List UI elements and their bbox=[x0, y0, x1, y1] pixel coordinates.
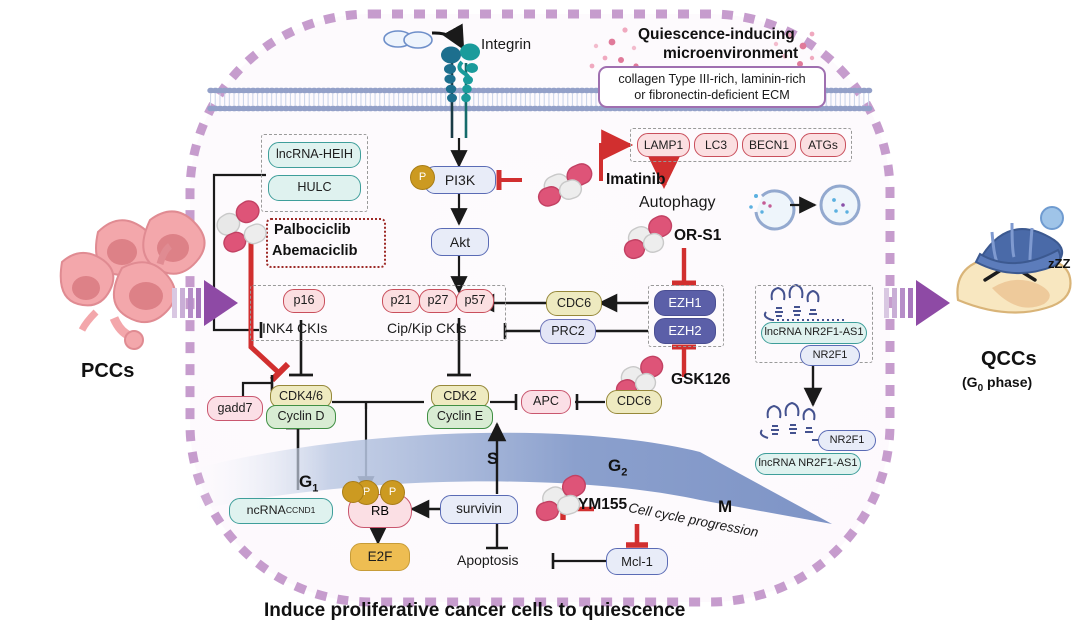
qccs-sublabel: (G0 phase) bbox=[962, 374, 1032, 394]
diagram-canvas: Integrin Quiescence-inducing microenviro… bbox=[0, 0, 1080, 631]
figure-caption: Induce proliferative cancer cells to qui… bbox=[264, 600, 685, 622]
ym155-capsule-icon-layer bbox=[0, 0, 1080, 631]
qccs-label: QCCs bbox=[981, 348, 1037, 371]
sleep-zzz-label: zZZ bbox=[1048, 256, 1070, 271]
pccs-label: PCCs bbox=[81, 360, 134, 383]
